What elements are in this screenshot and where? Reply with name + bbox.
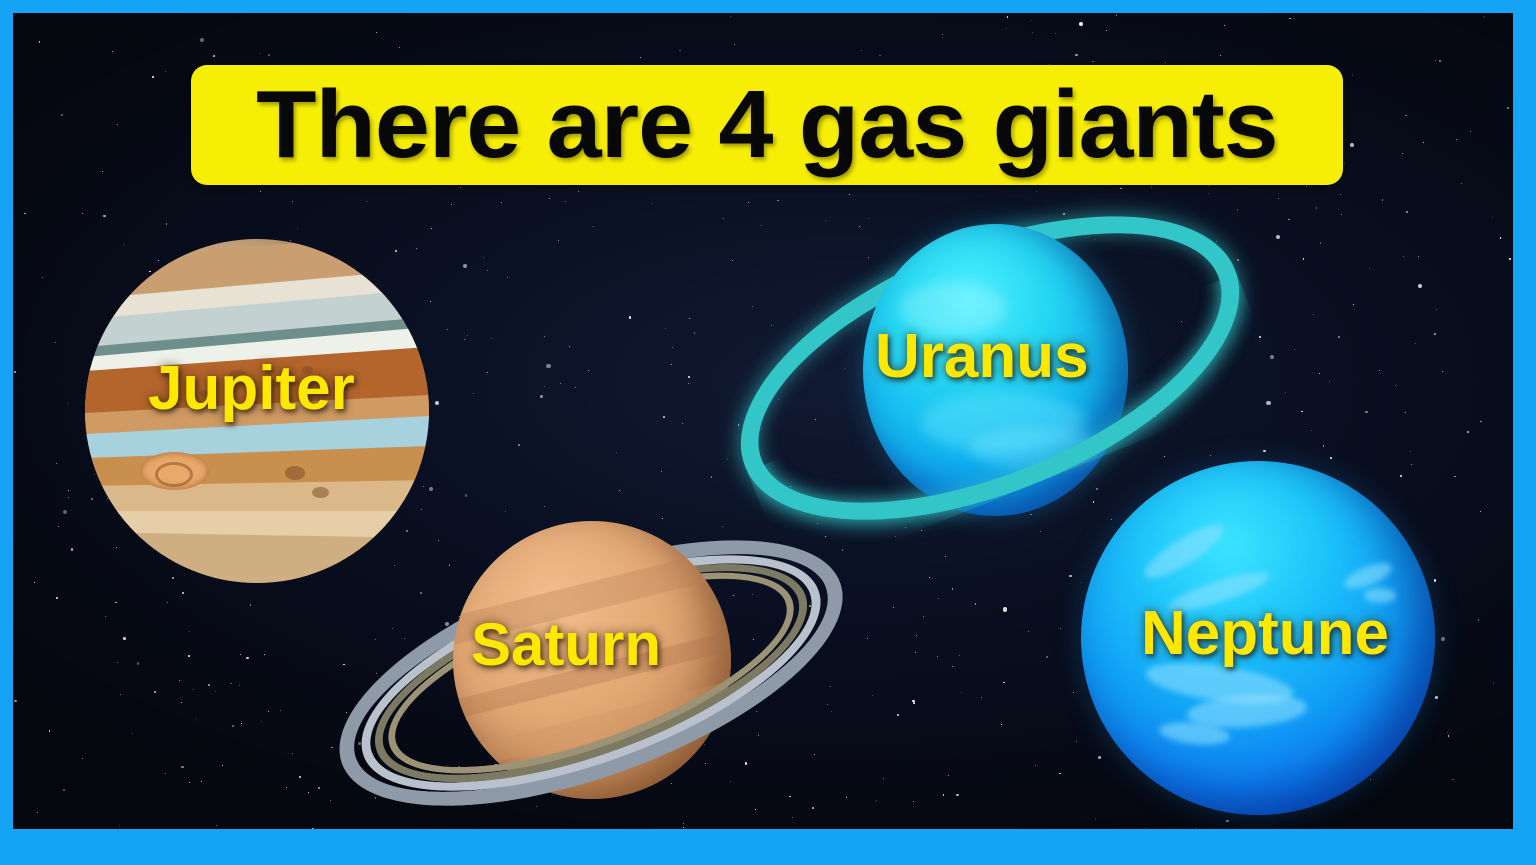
slide-frame: There are 4 gas giants — [0, 0, 1536, 865]
planet-label-neptune: Neptune — [1141, 603, 1389, 665]
planet-label-uranus: Uranus — [875, 326, 1089, 388]
planet-neptune[interactable]: Neptune — [1081, 461, 1435, 815]
great-red-spot-icon — [140, 452, 209, 490]
space-background: There are 4 gas giants — [13, 13, 1513, 829]
planet-label-saturn: Saturn — [471, 615, 661, 675]
title-banner: There are 4 gas giants — [191, 65, 1343, 185]
planet-label-jupiter: Jupiter — [148, 358, 355, 420]
page-title: There are 4 gas giants — [256, 77, 1278, 173]
planet-saturn[interactable]: Saturn — [331, 493, 851, 829]
